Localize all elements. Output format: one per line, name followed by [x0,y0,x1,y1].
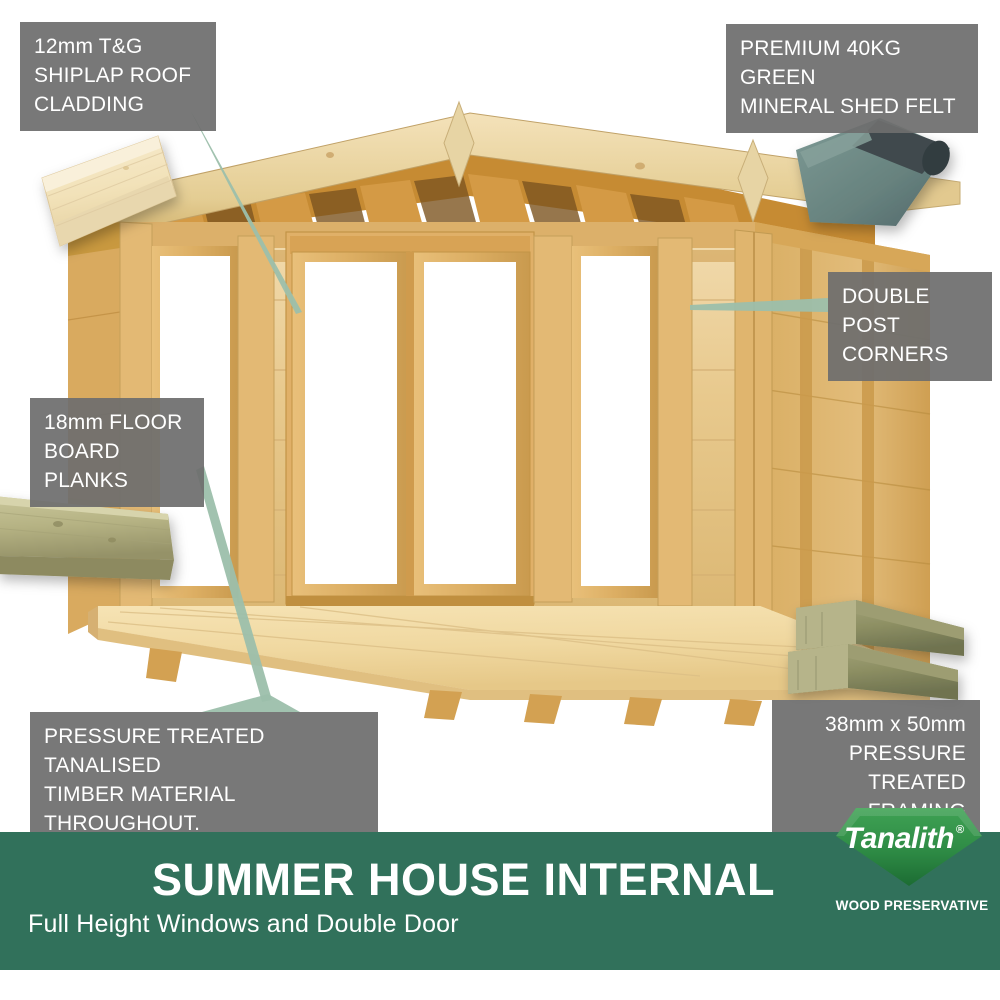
double-door-left-leaf [292,252,410,596]
callout-floor-board-planks: 18mm FLOOR BOARD PLANKS [30,398,204,507]
page-title: SUMMER HOUSE INTERNAL [152,854,775,906]
tanalith-logo: Tanalith ® WOOD PRESERVATIVE [824,806,1000,924]
callout-roof-cladding: 12mm T&G SHIPLAP ROOF CLADDING [20,22,216,131]
mineral-shed-felt-roll-sample [796,118,955,226]
callout-double-post-corners: DOUBLE POST CORNERS [828,272,992,381]
infographic-canvas: 12mm T&G SHIPLAP ROOF CLADDING PREMIUM 4… [0,0,1000,1000]
pointer-pressure-treated-2 [202,694,300,712]
tanalith-wordmark: Tanalith [824,822,974,856]
callout-shed-felt: PREMIUM 40KG GREEN MINERAL SHED FELT [726,24,978,133]
openings [152,232,692,608]
right-side-wall [735,172,960,672]
registered-trademark-icon: ® [956,824,964,836]
tanalith-tagline: WOOD PRESERVATIVE [832,898,992,913]
callout-pressure-treated-timber: PRESSURE TREATED TANALISED TIMBER MATERI… [30,712,378,850]
page-subtitle: Full Height Windows and Double Door [28,910,459,939]
window-right [572,246,658,598]
double-door-right-leaf [412,252,530,596]
